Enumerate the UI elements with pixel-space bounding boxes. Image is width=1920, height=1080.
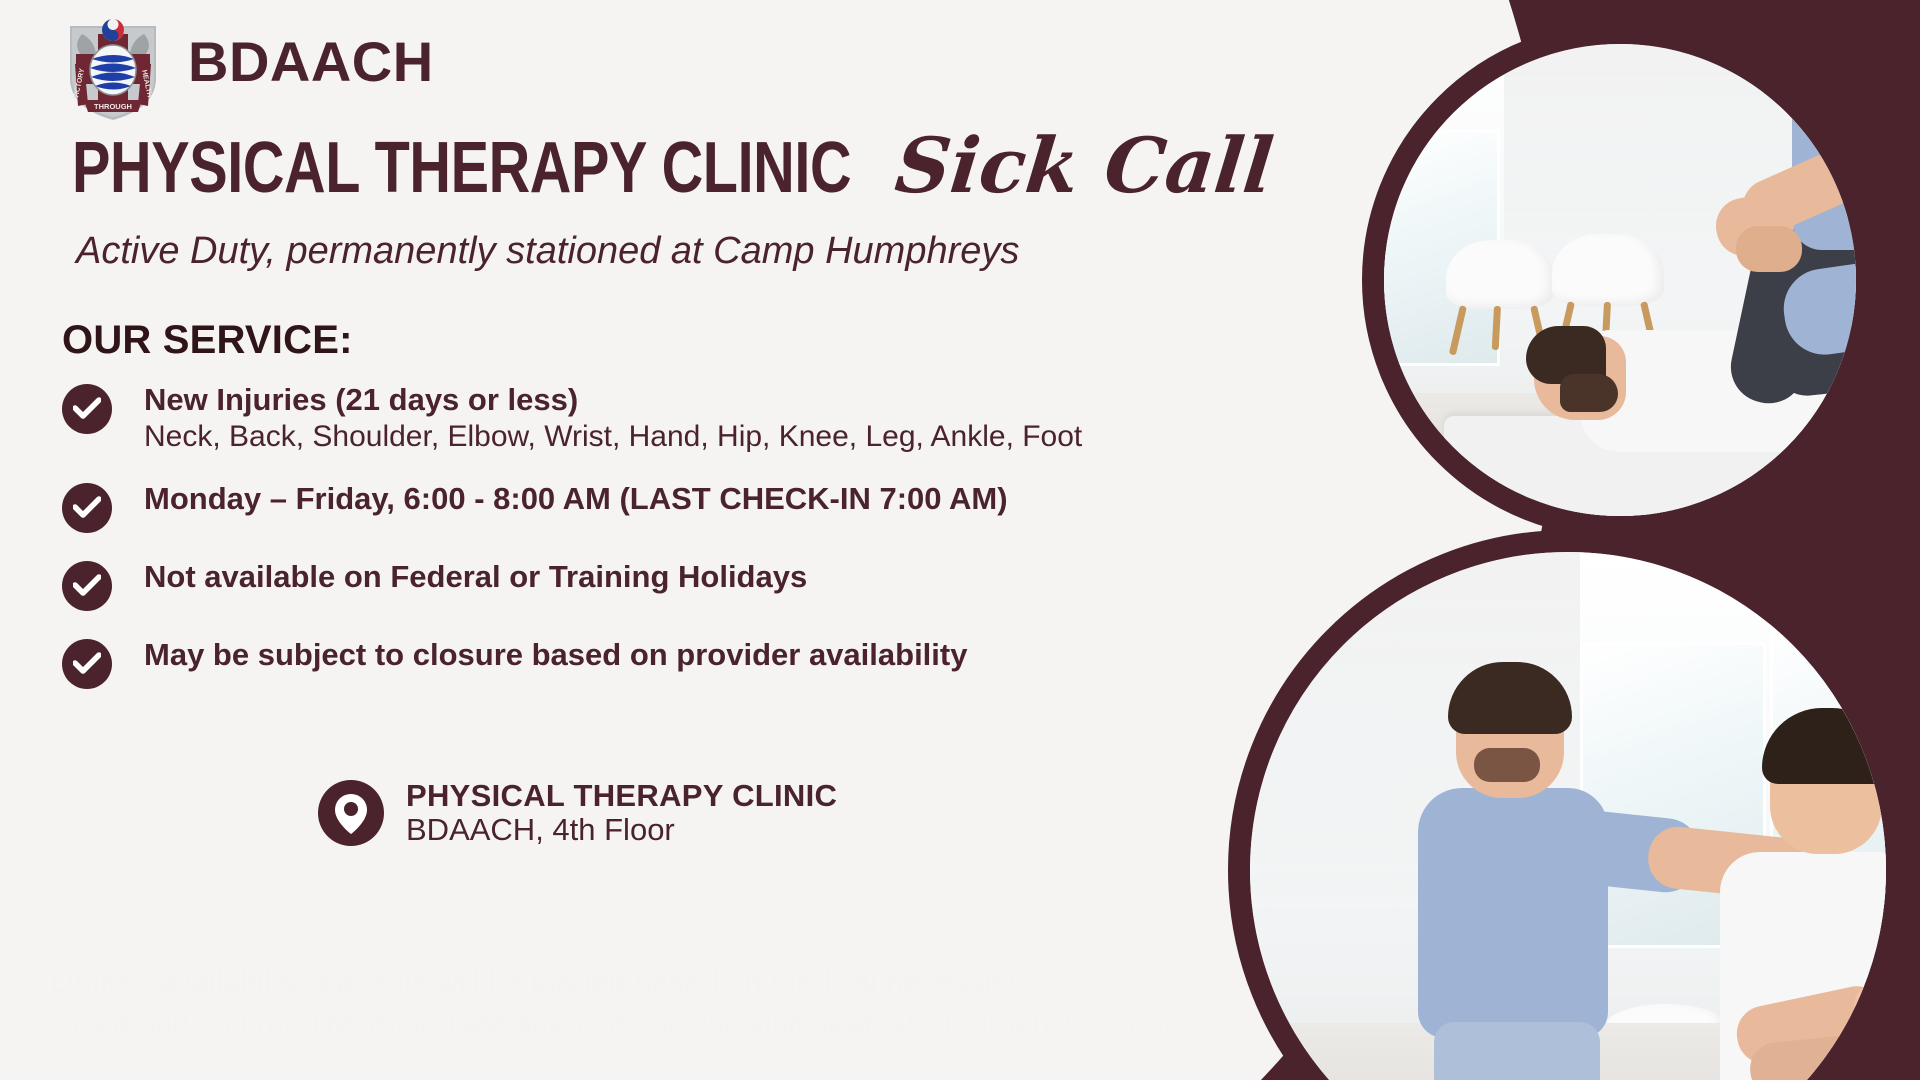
check-circle-icon bbox=[62, 384, 112, 434]
services-heading: OUR SERVICE: bbox=[62, 318, 353, 363]
list-item-title: Not available on Federal or Training Hol… bbox=[144, 559, 1102, 595]
list-item: Not available on Federal or Training Hol… bbox=[62, 559, 1102, 595]
location-text: PHYSICAL THERAPY CLINIC BDAACH, 4th Floo… bbox=[406, 778, 837, 848]
location-name: PHYSICAL THERAPY CLINIC bbox=[406, 778, 837, 814]
bdaach-crest-logo: THROUGH VICTORY HEALTH bbox=[58, 12, 168, 124]
poster-canvas: THROUGH VICTORY HEALTH BDAACH PHYSICAL T… bbox=[0, 0, 1920, 1080]
footer-line-1: ***Limited availability; patients will b… bbox=[14, 962, 1181, 1003]
list-item-title: May be subject to closure based on provi… bbox=[144, 637, 1102, 673]
page-title: PHYSICAL THERAPY CLINICSick Call bbox=[72, 128, 1273, 204]
list-item-title: New Injuries (21 days or less) bbox=[144, 382, 1102, 418]
photo-therapy-leg-stretch bbox=[1362, 22, 1878, 538]
title-script: Sick Call bbox=[892, 128, 1277, 204]
footer-disclaimer: ***Limited availability; patients will b… bbox=[14, 962, 1181, 1044]
location-detail: BDAACH, 4th Floor bbox=[406, 812, 837, 848]
crest-motto-bottom: THROUGH bbox=[94, 102, 132, 111]
photo-therapy-shoulder-mobilization bbox=[1228, 530, 1908, 1080]
list-item: Monday – Friday, 6:00 - 8:00 AM (LAST CH… bbox=[62, 481, 1102, 517]
check-circle-icon bbox=[62, 483, 112, 533]
list-item: New Injuries (21 days or less) Neck, Bac… bbox=[62, 382, 1102, 455]
title-main: PHYSICAL THERAPY CLINIC bbox=[72, 132, 851, 204]
list-item: May be subject to closure based on provi… bbox=[62, 637, 1102, 673]
footer-line-2: If closed and you require immediate atte… bbox=[14, 1003, 1181, 1044]
location-block: PHYSICAL THERAPY CLINIC BDAACH, 4th Floo… bbox=[318, 778, 837, 848]
list-item-title: Monday – Friday, 6:00 - 8:00 AM (LAST CH… bbox=[144, 481, 1102, 517]
org-abbreviation: BDAACH bbox=[188, 34, 434, 90]
map-pin-icon bbox=[318, 780, 384, 846]
page-subtitle: Active Duty, permanently stationed at Ca… bbox=[76, 230, 1019, 273]
list-item-sub: Neck, Back, Shoulder, Elbow, Wrist, Hand… bbox=[144, 419, 1102, 455]
services-list: New Injuries (21 days or less) Neck, Bac… bbox=[62, 382, 1102, 673]
check-circle-icon bbox=[62, 639, 112, 689]
check-circle-icon bbox=[62, 561, 112, 611]
